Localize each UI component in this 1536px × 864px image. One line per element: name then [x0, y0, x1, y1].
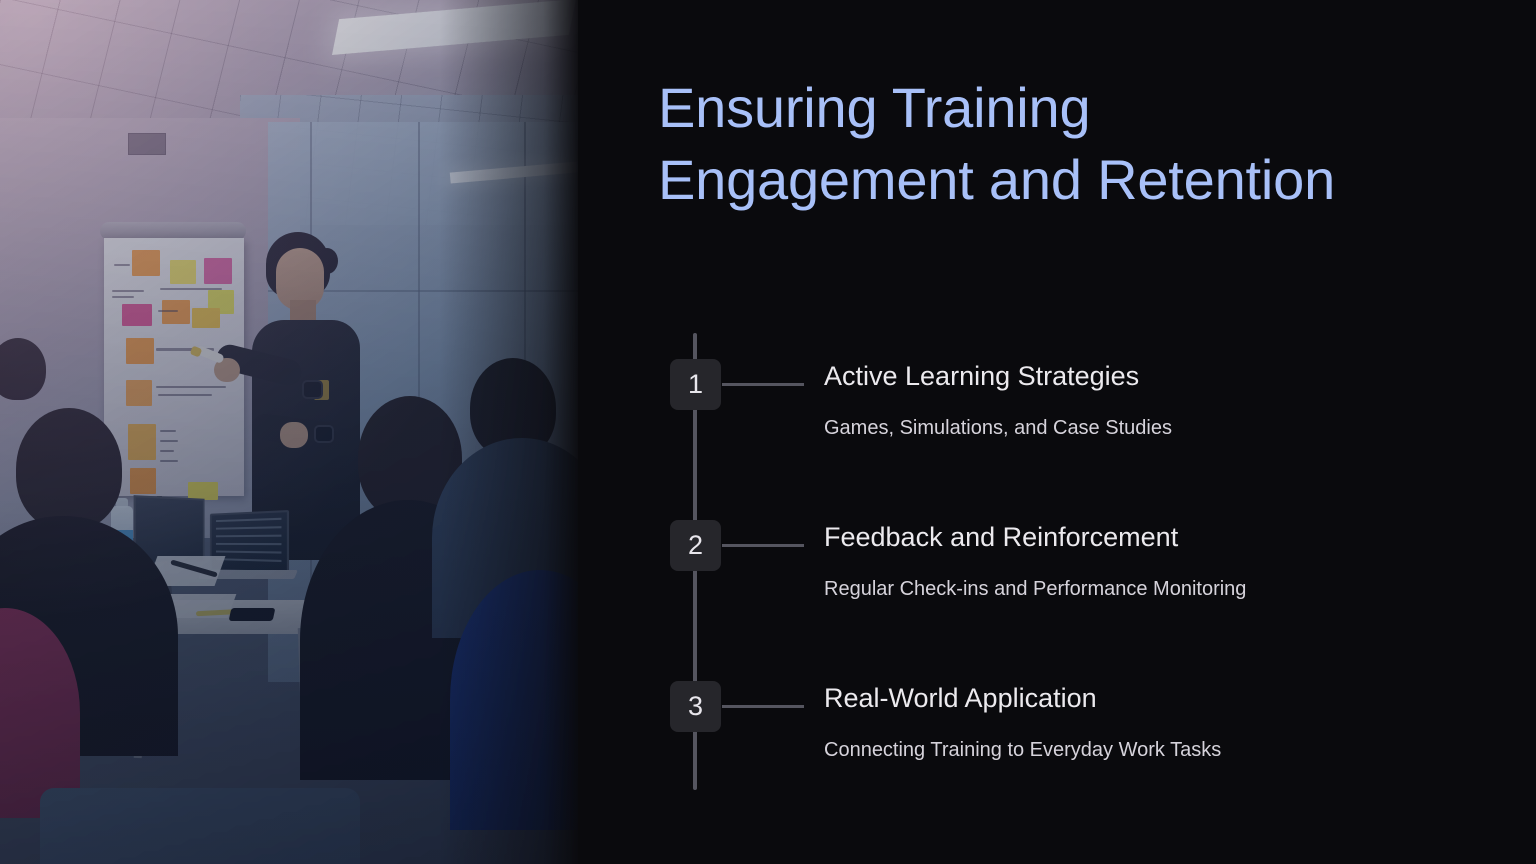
slide-content-panel: Ensuring Training Engagement and Retenti…	[578, 0, 1536, 864]
numbered-timeline: Active Learning Strategies 1 Games, Simu…	[578, 0, 1536, 864]
timeline-heading-1: Active Learning Strategies	[824, 360, 1139, 392]
timeline-number-badge-3[interactable]: 3	[670, 681, 721, 732]
timeline-number-badge-2[interactable]: 2	[670, 520, 721, 571]
presentation-slide: Ensuring Training Engagement and Retenti…	[0, 0, 1536, 864]
photo-right-fade-overlay	[0, 0, 578, 864]
timeline-heading-2: Feedback and Reinforcement	[824, 521, 1178, 553]
photo-scene	[0, 0, 578, 864]
timeline-number-badge-1[interactable]: 1	[670, 359, 721, 410]
training-session-photo	[0, 0, 578, 864]
timeline-heading-3: Real-World Application	[824, 682, 1097, 714]
timeline-subtitle-3: Connecting Training to Everyday Work Tas…	[824, 737, 1221, 763]
timeline-subtitle-2: Regular Check-ins and Performance Monito…	[824, 576, 1246, 602]
timeline-subtitle-1: Games, Simulations, and Case Studies	[824, 415, 1172, 441]
timeline-connector-3	[722, 705, 804, 708]
timeline-connector-2	[722, 544, 804, 547]
timeline-connector-1	[722, 383, 804, 386]
